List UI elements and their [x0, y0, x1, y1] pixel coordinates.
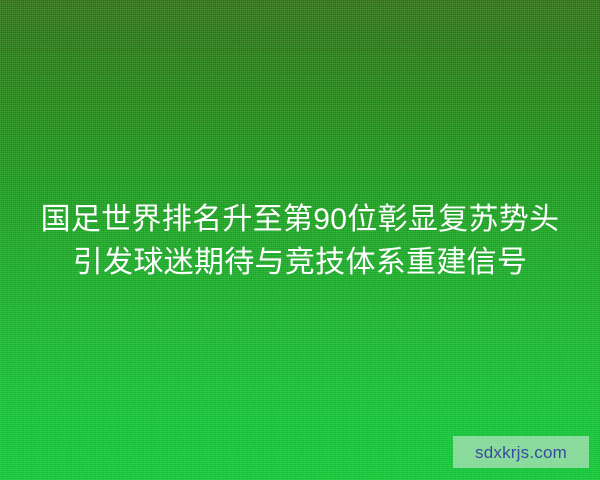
watermark-badge: sdxkrjs.com — [453, 436, 589, 468]
headline-line-2: 引发球迷期待与竞技体系重建信号 — [0, 241, 600, 284]
headline-line-1: 国足世界排名升至第90位彰显复苏势头 — [0, 198, 600, 241]
poster-canvas: 国足世界排名升至第90位彰显复苏势头 引发球迷期待与竞技体系重建信号 sdxkr… — [0, 0, 600, 480]
watermark-label: sdxkrjs.com — [475, 444, 567, 461]
page-title: 国足世界排名升至第90位彰显复苏势头 引发球迷期待与竞技体系重建信号 — [0, 198, 600, 284]
